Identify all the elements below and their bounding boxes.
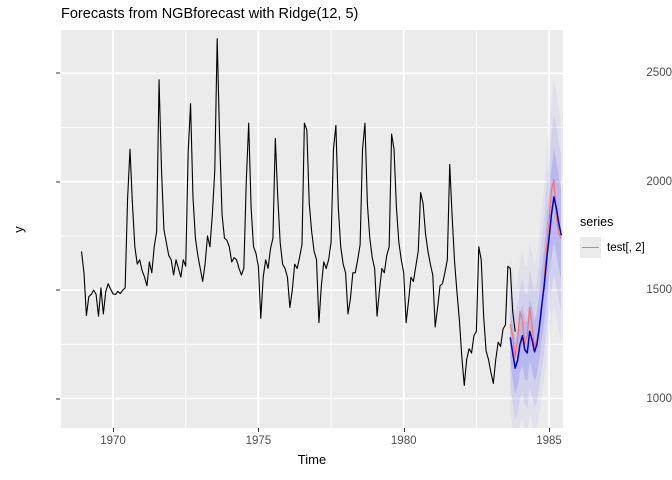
y-tick-label: 1000 bbox=[626, 393, 672, 405]
legend-items: test[, 2] bbox=[580, 237, 670, 258]
chart-title: Forecasts from NGBforecast with Ridge(12… bbox=[61, 6, 358, 22]
legend-item[interactable]: test[, 2] bbox=[580, 237, 670, 258]
legend-line-icon bbox=[582, 247, 599, 249]
x-tick-label: 1980 bbox=[391, 435, 417, 447]
legend-title: series bbox=[580, 215, 670, 229]
x-tick-mark bbox=[258, 428, 259, 432]
legend-item-label: test[, 2] bbox=[607, 242, 645, 254]
x-tick-label: 1970 bbox=[100, 435, 126, 447]
x-tick-label: 1975 bbox=[246, 435, 272, 447]
plot-area bbox=[61, 30, 563, 428]
y-tick-mark bbox=[56, 398, 60, 399]
y-axis-label: y bbox=[8, 0, 28, 458]
x-tick-mark bbox=[113, 428, 114, 432]
x-axis-label: Time bbox=[61, 452, 563, 467]
x-tick-mark bbox=[549, 428, 550, 432]
y-tick-label: 1500 bbox=[626, 284, 672, 296]
y-axis-label-text: y bbox=[11, 226, 26, 233]
x-tick-mark bbox=[404, 428, 405, 432]
y-tick-mark bbox=[56, 181, 60, 182]
x-tick-label: 1985 bbox=[536, 435, 562, 447]
history-line bbox=[82, 39, 516, 386]
legend-key-swatch bbox=[580, 237, 601, 258]
chart-root: Forecasts from NGBforecast with Ridge(12… bbox=[0, 0, 672, 480]
legend: series test[, 2] bbox=[580, 215, 670, 258]
y-tick-mark bbox=[56, 290, 60, 291]
y-tick-mark bbox=[56, 73, 60, 74]
y-tick-label: 2000 bbox=[626, 176, 672, 188]
plot-panel bbox=[61, 30, 563, 428]
y-tick-label: 2500 bbox=[626, 67, 672, 79]
